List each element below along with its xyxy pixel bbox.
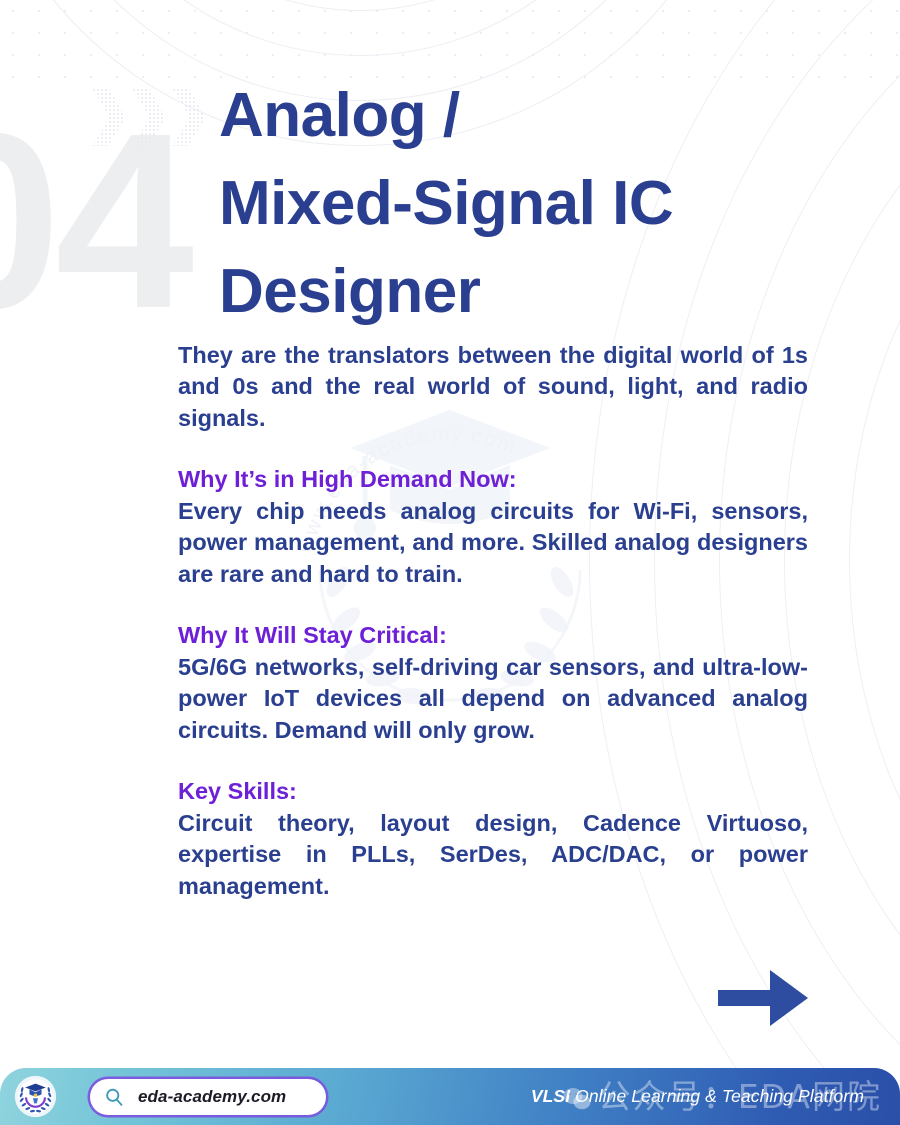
section-body: Circuit theory, layout design, Cadence V… <box>178 808 808 902</box>
section-key-skills: Key Skills: Circuit theory, layout desig… <box>178 776 808 902</box>
page-title: Analog / Mixed-Signal IC Designer <box>219 72 819 336</box>
next-slide-arrow-icon[interactable] <box>718 966 810 1030</box>
footer-bar: eda-academy.com VLSI Online Learning & T… <box>0 1068 900 1125</box>
search-bar[interactable]: eda-academy.com <box>90 1079 326 1115</box>
intro-paragraph: They are the translators between the dig… <box>178 340 808 434</box>
slide-number-watermark: 04 <box>0 96 188 346</box>
chevron-icon <box>92 88 126 146</box>
section-heading: Why It’s in High Demand Now: <box>178 464 808 495</box>
footer-tagline-strong: VLSI <box>531 1086 570 1106</box>
search-icon <box>104 1087 125 1108</box>
chevron-decoration <box>92 88 206 146</box>
page-title-line-3: Designer <box>219 248 819 336</box>
chevron-icon <box>172 88 206 146</box>
footer-tagline: VLSI Online Learning & Teaching Platform <box>531 1086 864 1107</box>
section-body: 5G/6G networks, self-driving car sensors… <box>178 652 808 746</box>
chevron-icon <box>132 88 166 146</box>
body-copy: They are the translators between the dig… <box>178 340 808 902</box>
slide-canvas: 04 <box>0 0 900 1125</box>
eda-academy-logo-icon <box>14 1075 57 1118</box>
section-body: Every chip needs analog circuits for Wi-… <box>178 496 808 590</box>
page-title-line-2: Mixed-Signal IC <box>219 160 819 248</box>
page-title-line-1: Analog / <box>219 72 819 160</box>
section-heading: Key Skills: <box>178 776 808 807</box>
search-input-value[interactable]: eda-academy.com <box>138 1087 286 1107</box>
footer-tagline-rest: Online Learning & Teaching Platform <box>570 1086 864 1106</box>
section-critical: Why It Will Stay Critical: 5G/6G network… <box>178 620 808 746</box>
section-heading: Why It Will Stay Critical: <box>178 620 808 651</box>
section-demand: Why It’s in High Demand Now: Every chip … <box>178 464 808 590</box>
